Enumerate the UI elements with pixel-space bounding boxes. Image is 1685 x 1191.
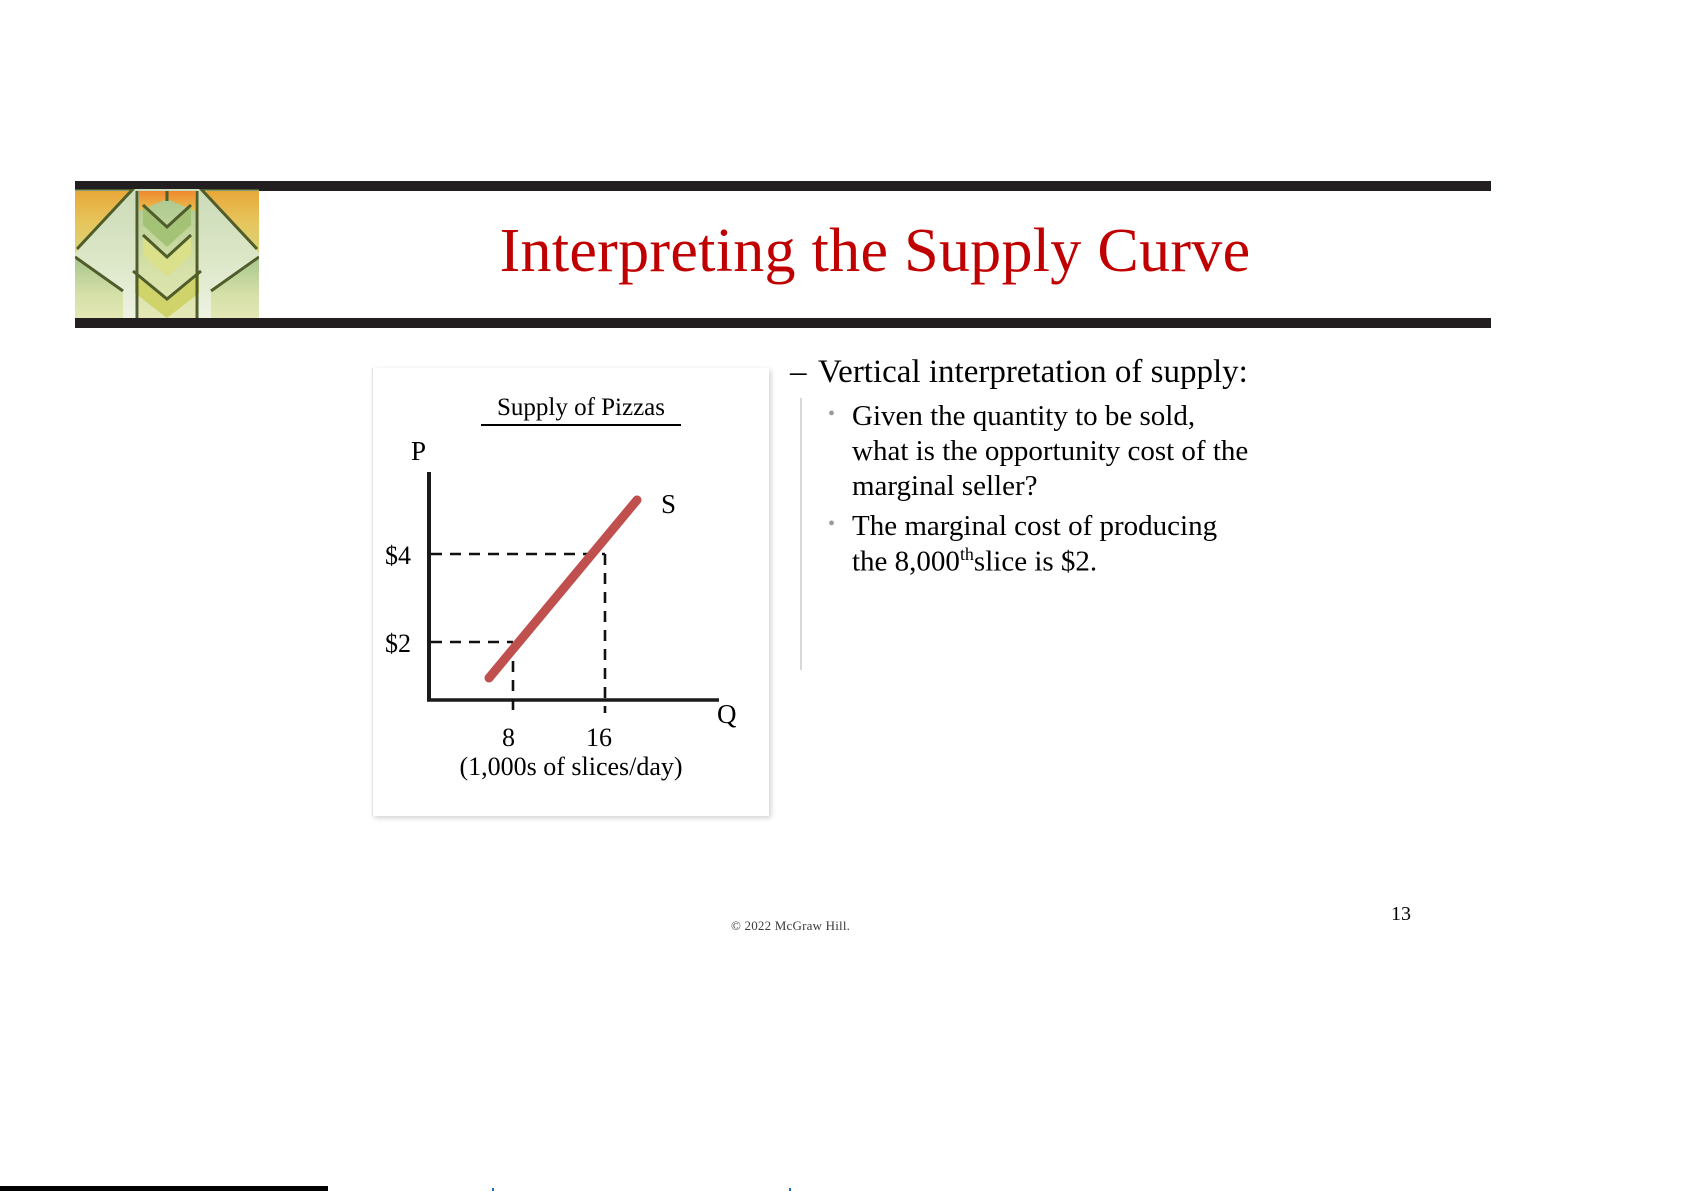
copyright-notice: © 2022 McGraw Hill. [731, 918, 850, 934]
ordinal-suffix: th [960, 544, 974, 564]
bullet-level2-text: The marginal cost of producing the 8,000… [852, 509, 1250, 579]
supply-curve-chart: P Q $4 $2 8 16 S [373, 368, 769, 816]
x-tick-16: 16 [586, 723, 612, 752]
x-tick-8: 8 [502, 723, 515, 752]
bullet-dot-marker: • [828, 509, 852, 540]
bullet-level2-text: Given the quantity to be sold, what is t… [852, 399, 1250, 503]
bullet-level1-vertical-interpretation: – Vertical interpretation of supply: [780, 352, 1250, 393]
bullet-dot-marker: • [828, 399, 852, 430]
supply-chart-panel: Supply of Pizzas P Q $4 $2 8 16 S [372, 368, 769, 816]
y-tick-2: $2 [385, 629, 411, 658]
supply-curve-line [489, 500, 637, 678]
y-axis-label: P [411, 436, 426, 466]
bullet-level2-given-quantity: • Given the quantity to be sold, what is… [780, 399, 1250, 503]
stained-glass-logo-icon [75, 181, 259, 318]
header-rule-bottom [75, 318, 1491, 328]
content-bullet-list: – Vertical interpretation of supply: • G… [780, 352, 1250, 586]
bullet-level1-text: Vertical interpretation of supply: [818, 352, 1250, 393]
bullet-dash-marker: – [790, 352, 818, 393]
next-slide-rule-sliver [0, 1186, 328, 1191]
marginal-cost-text-after: slice is $2. [974, 546, 1097, 578]
bullet-level2-marginal-cost: • The marginal cost of producing the 8,0… [780, 509, 1250, 579]
chart-x-axis-caption: (1,000s of slices/day) [373, 752, 769, 782]
x-axis-label: Q [717, 699, 737, 729]
supply-curve-label: S [661, 489, 676, 519]
page-title: Interpreting the Supply Curve [259, 196, 1491, 308]
page-number: 13 [1386, 903, 1416, 926]
slide-canvas: Interpreting the Supply Curve Supply of … [0, 0, 1685, 1191]
header-rule-top [75, 181, 1491, 191]
y-tick-4: $4 [385, 541, 411, 570]
